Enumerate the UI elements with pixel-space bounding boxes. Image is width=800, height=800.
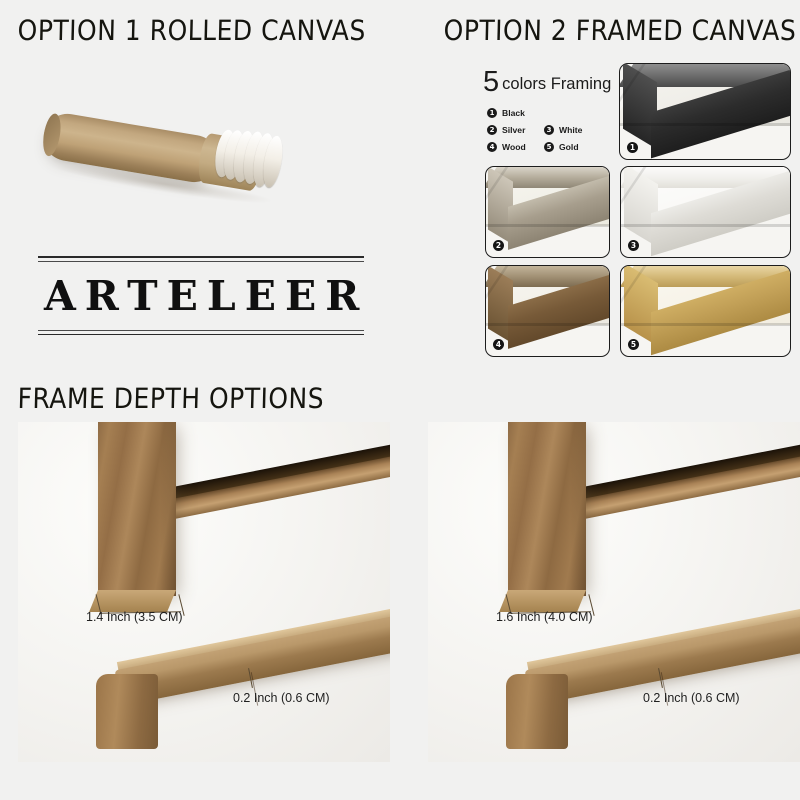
legend-badge-1: 1: [487, 108, 497, 118]
frame-corner-render-gold: [621, 266, 790, 356]
swatch-number-4: 4: [493, 339, 504, 350]
frame-corner-render-black: [620, 64, 790, 159]
frame-vertical-rail-foot: [499, 590, 586, 612]
legend-item-black: 1 Black: [487, 108, 607, 118]
frame-depth-title: FRAME DEPTH OPTIONS: [17, 382, 324, 414]
frame-depth-photo-right: 1.6 Inch (4.0 CM) 0.2 Inch (0.6 CM): [428, 422, 800, 762]
frame-corner-render-white: [621, 167, 790, 257]
thickness-label-right: 0.2 Inch (0.6 CM): [643, 691, 740, 705]
legend-badge-5: 5: [544, 142, 554, 152]
frame-swatch-gold[interactable]: 5: [620, 265, 791, 357]
frame-horizontal-rail-cap: [96, 674, 158, 749]
legend-label-silver: Silver: [502, 125, 525, 135]
frame-vertical-rail: [98, 422, 176, 596]
legend-label-white: White: [559, 125, 582, 135]
frame-vertical-rail: [508, 422, 586, 596]
legend-badge-2: 2: [487, 125, 497, 135]
legend-item-wood: 4 Wood: [487, 142, 544, 152]
option1-title: OPTION 1 ROLLED CANVAS: [17, 14, 366, 46]
legend-badge-3: 3: [544, 125, 554, 135]
thickness-label-left: 0.2 Inch (0.6 CM): [233, 691, 330, 705]
product-infographic: OPTION 1 ROLLED CANVAS ARTELEER OPTION 2…: [0, 0, 800, 800]
option2-title: OPTION 2 FRAMED CANVAS: [443, 14, 796, 46]
logo-rule-bottom-outer: [38, 334, 364, 336]
brand-name: ARTELEER: [38, 262, 364, 330]
rolled-canvas-tube-image: [40, 72, 290, 202]
frame-swatch-silver[interactable]: 2: [485, 166, 610, 258]
frame-horizontal-rail-cap: [506, 674, 568, 749]
depth-label-right: 1.6 Inch (4.0 CM): [496, 610, 593, 624]
frame-swatch-wood[interactable]: 4: [485, 265, 610, 357]
swatch-number-5: 5: [628, 339, 639, 350]
frame-corner-render-silver: [486, 167, 609, 257]
legend-label-wood: Wood: [502, 142, 526, 152]
legend-badge-4: 4: [487, 142, 497, 152]
legend-item-gold: 5 Gold: [544, 142, 601, 152]
brand-logo-block: ARTELEER: [38, 256, 364, 335]
legend-label-black: Black: [502, 108, 525, 118]
rolled-canvas-sheets: [211, 124, 290, 193]
frame-swatch-black[interactable]: 1: [619, 63, 791, 160]
swatch-number-1: 1: [627, 142, 638, 153]
legend-item-white: 3 White: [544, 125, 601, 135]
framing-color-count: 5: [483, 66, 499, 98]
frame-swatch-white[interactable]: 3: [620, 166, 791, 258]
swatch-number-2: 2: [493, 240, 504, 251]
framing-heading-rest: colors Framing: [502, 75, 611, 93]
frame-corner-render-wood: [486, 266, 609, 356]
framing-colors-heading: 5colors Framing: [483, 66, 611, 99]
framing-color-legend: 1 Black 2 Silver 3 White 4 Wood 5 Gold: [487, 108, 627, 159]
legend-item-silver: 2 Silver: [487, 125, 544, 135]
swatch-number-3: 3: [628, 240, 639, 251]
frame-depth-photo-left: 1.4 Inch (3.5 CM) 0.2 Inch (0.6 CM): [18, 422, 390, 762]
depth-label-left: 1.4 Inch (3.5 CM): [86, 610, 183, 624]
legend-label-gold: Gold: [559, 142, 579, 152]
frame-vertical-rail-foot: [89, 590, 176, 612]
